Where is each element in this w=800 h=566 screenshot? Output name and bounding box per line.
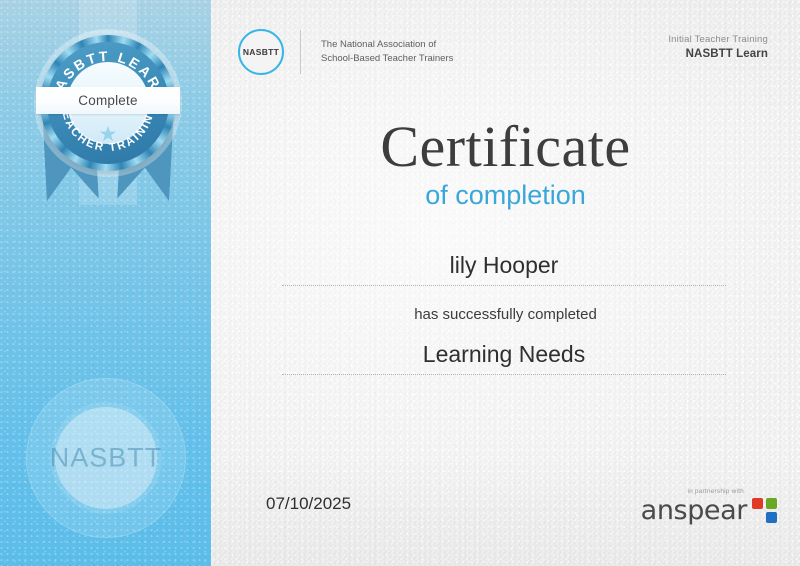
- left-blue-panel: NASBTT LEARN TEACHER TRAINING Complete ★…: [0, 0, 211, 566]
- nasbtt-logo-icon: NASBTT: [238, 29, 284, 75]
- certificate-page: NASBTT LEARN TEACHER TRAINING Complete ★…: [0, 0, 800, 566]
- anspear-square-red: [752, 498, 763, 509]
- partner-caption: in partnership with: [641, 488, 744, 495]
- anspear-wordmark: anspear: [641, 497, 747, 524]
- program-name-label: NASBTT Learn: [668, 48, 768, 60]
- partner-logo: anspear: [641, 497, 778, 524]
- nasbtt-logo-label: NASBTT: [243, 47, 279, 57]
- page-subtitle: of completion: [211, 182, 800, 209]
- recipient-rule: [282, 285, 726, 286]
- seal-banner-label: Complete: [78, 93, 137, 108]
- association-line-2: School-Based Teacher Trainers: [321, 52, 453, 66]
- header-program-info: Initial Teacher Training NASBTT Learn: [668, 34, 768, 60]
- partner-block: in partnership with anspear: [641, 488, 778, 524]
- completion-seal: NASBTT LEARN TEACHER TRAINING Complete ★: [40, 35, 176, 171]
- issue-date: 07/10/2025: [266, 494, 351, 514]
- program-type-label: Initial Teacher Training: [668, 34, 768, 45]
- star-icon: ★: [99, 124, 118, 145]
- recipient-name: lily Hooper: [282, 253, 726, 285]
- nasbtt-watermark: NASBTT: [26, 378, 186, 538]
- page-title: Certificate: [211, 118, 800, 176]
- recipient-field: lily Hooper: [282, 253, 726, 286]
- completion-statement: has successfully completed: [211, 306, 800, 323]
- anspear-square-blue: [766, 512, 777, 523]
- anspear-squares-icon: [752, 498, 778, 524]
- course-rule: [282, 374, 726, 375]
- course-name: Learning Needs: [282, 342, 726, 374]
- header-divider: [300, 30, 301, 74]
- association-line-1: The National Association of: [321, 38, 453, 52]
- seal-banner: Complete: [36, 87, 180, 114]
- watermark-label: NASBTT: [26, 443, 186, 474]
- course-field: Learning Needs: [282, 342, 726, 375]
- association-name: The National Association of School-Based…: [321, 38, 453, 66]
- header-brand: NASBTT The National Association of Schoo…: [238, 29, 453, 75]
- anspear-square-green: [766, 498, 777, 509]
